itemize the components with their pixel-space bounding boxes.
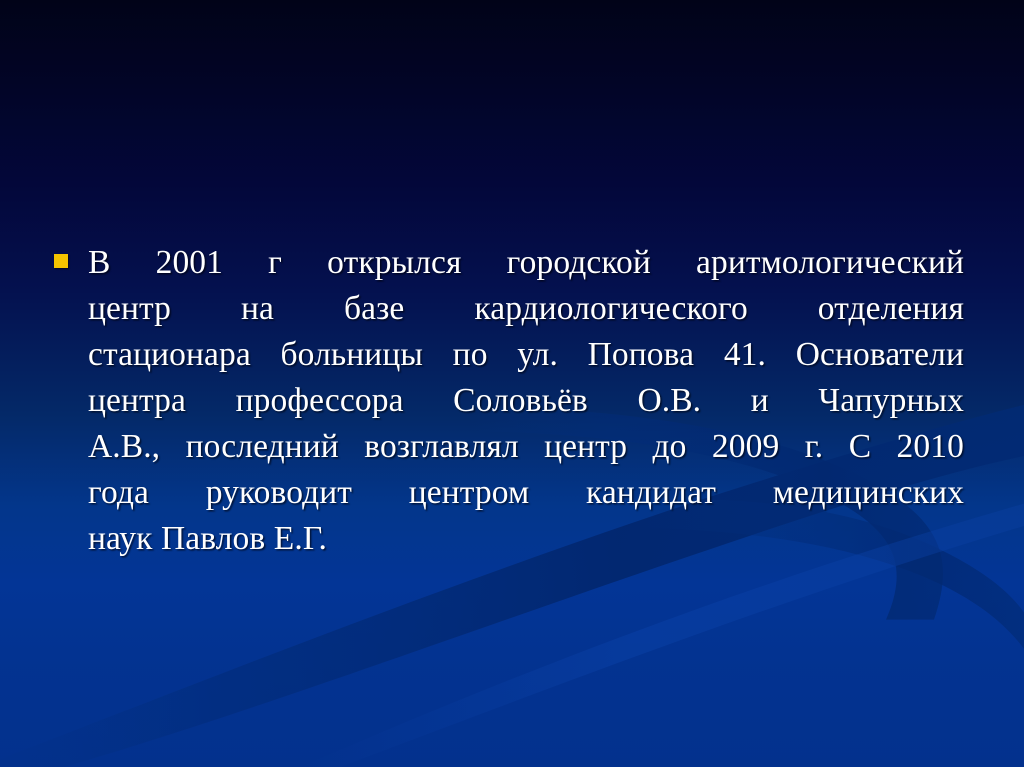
body-line: центра профессора Соловьёв О.В. и Чапурн… (88, 378, 964, 424)
body-line: года руководит центром кандидат медицинс… (88, 470, 964, 516)
square-bullet-icon (54, 254, 68, 268)
presentation-slide: В 2001 г открылся городской аритмологиче… (0, 0, 1024, 767)
body-line: В 2001 г открылся городской аритмологиче… (88, 240, 964, 286)
slide-body-block: В 2001 г открылся городской аритмологиче… (52, 240, 964, 562)
body-paragraph: В 2001 г открылся городской аритмологиче… (88, 240, 964, 562)
bullet-paragraph: В 2001 г открылся городской аритмологиче… (52, 240, 964, 562)
body-line: А.В., последний возглавлял центр до 2009… (88, 424, 964, 470)
body-line: центр на базе кардиологического отделени… (88, 286, 964, 332)
body-line: наук Павлов Е.Г. (88, 516, 964, 562)
body-line: стационара больницы по ул. Попова 41. Ос… (88, 332, 964, 378)
